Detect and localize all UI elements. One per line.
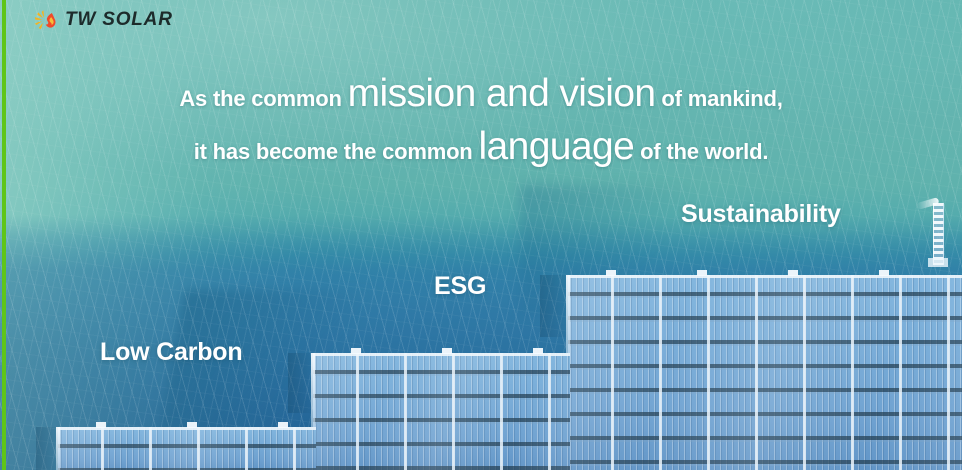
- step-label-low-carbon: Low Carbon: [100, 338, 242, 367]
- headline-l2-emphasis: language: [478, 125, 634, 168]
- slide-canvas: TW SOLAR As the common mission and visio…: [0, 0, 962, 470]
- solar-array-step-2: [313, 353, 570, 470]
- headline-line-1: As the common mission and vision of mank…: [0, 74, 962, 113]
- panel-sheen: [568, 275, 962, 470]
- step2-mounting-posts: [313, 348, 570, 354]
- step-label-sustainability: Sustainability: [681, 200, 841, 229]
- left-accent-strip: [2, 0, 6, 470]
- headline-line-2: it has become the common language of the…: [0, 127, 962, 166]
- step3-mounting-posts: [568, 270, 962, 276]
- panel-sheen: [313, 353, 570, 470]
- step3-riser-edge: [566, 275, 570, 355]
- step2-riser-edge: [311, 353, 315, 428]
- crane-tower-icon: [933, 203, 944, 265]
- step1-shadow: [36, 427, 58, 470]
- step1-mounting-posts: [58, 422, 316, 428]
- headline-l1-emphasis: mission and vision: [348, 72, 656, 115]
- headline-l1-part2: of mankind,: [656, 86, 783, 111]
- step1-riser-edge: [56, 427, 60, 470]
- crane-base: [928, 258, 948, 267]
- headline-l1-part1: As the common: [179, 86, 347, 111]
- headline-l2-part1: it has become the common: [194, 139, 479, 164]
- panel-sheen: [58, 427, 316, 470]
- headline-l2-part2: of the world.: [634, 139, 768, 164]
- step-label-esg: ESG: [434, 272, 486, 301]
- solar-array-step-1: [58, 427, 316, 470]
- brand-logo[interactable]: TW SOLAR: [32, 6, 173, 34]
- solar-array-step-3: [568, 275, 962, 470]
- sun-flame-logo-icon: [32, 7, 58, 33]
- headline-block: As the common mission and vision of mank…: [0, 74, 962, 166]
- brand-wordmark: TW SOLAR: [65, 9, 173, 31]
